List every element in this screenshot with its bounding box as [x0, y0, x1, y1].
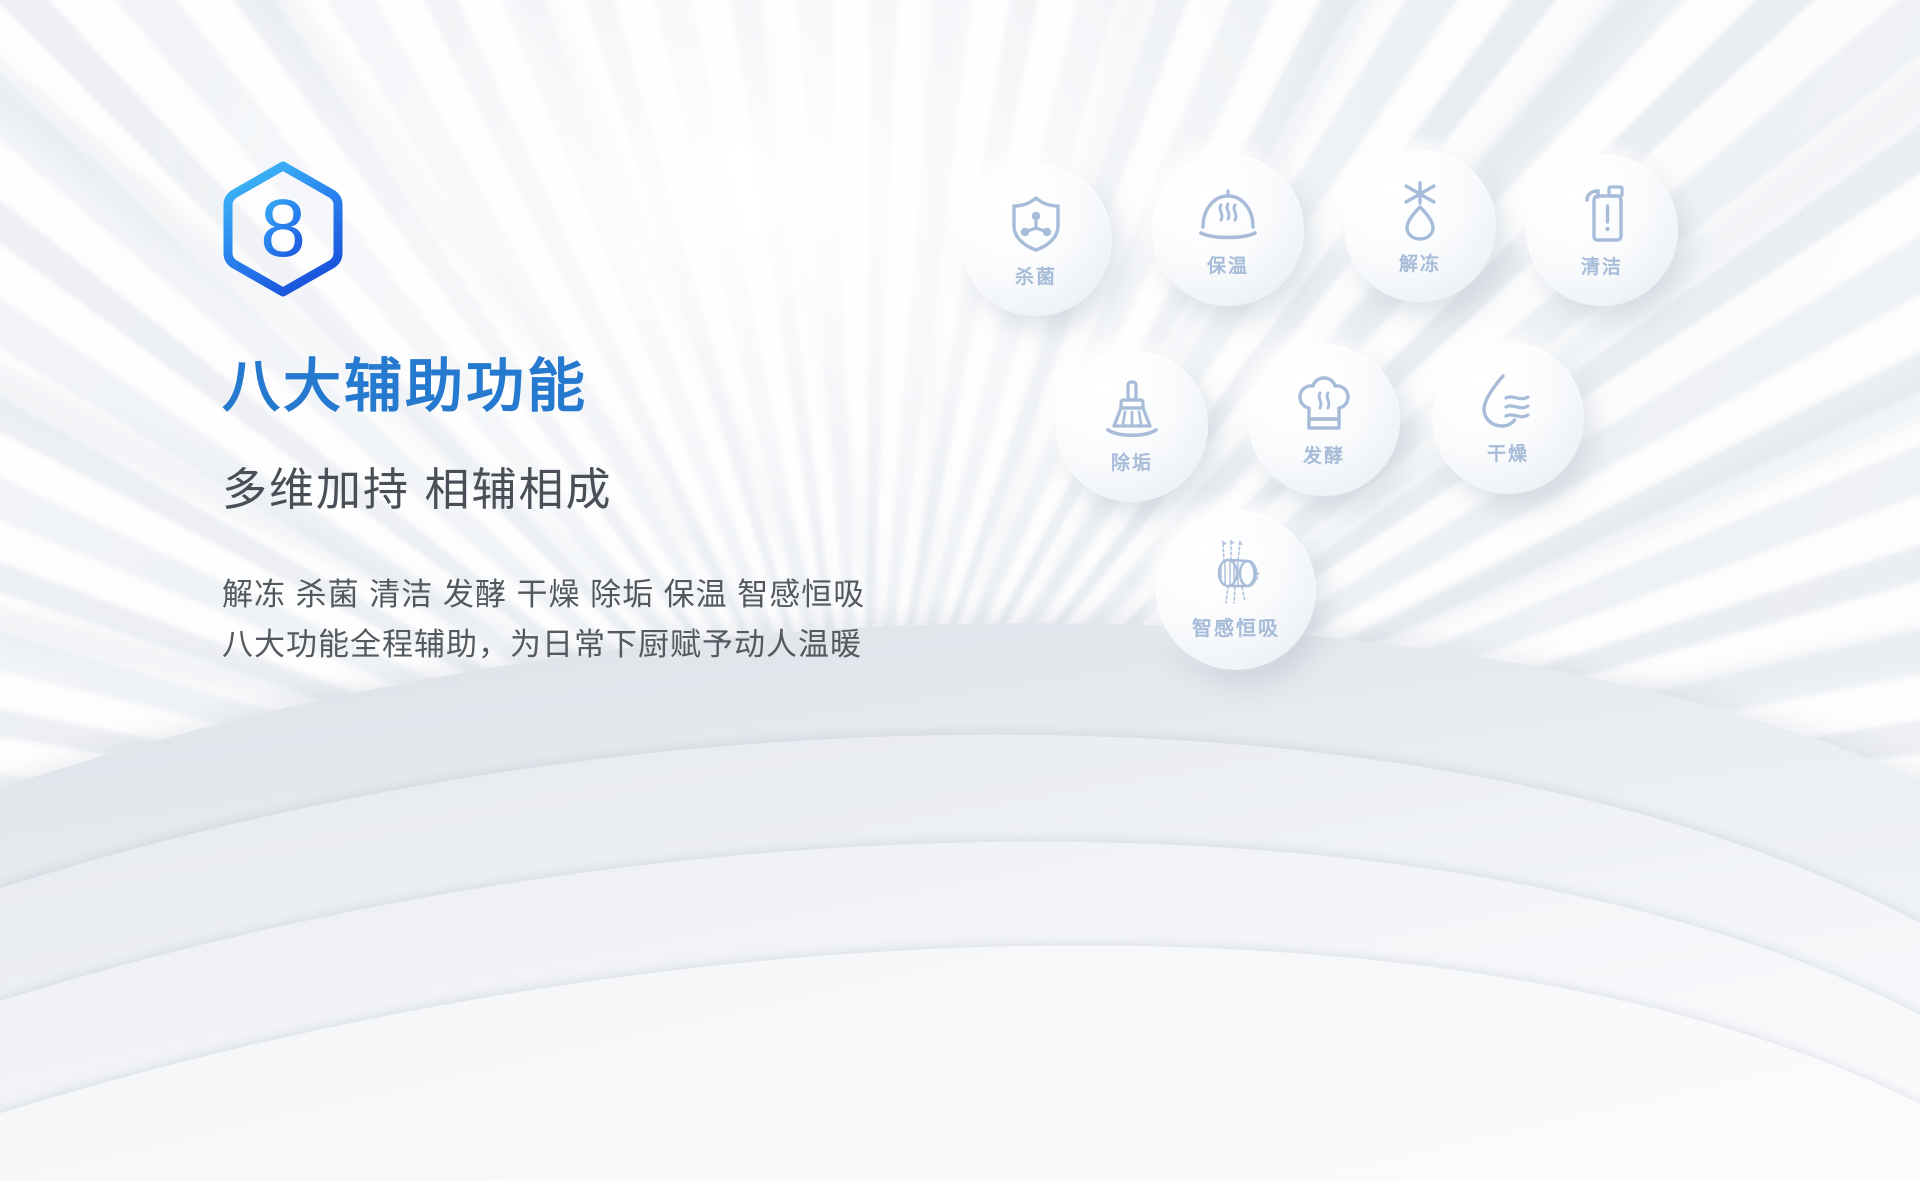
feature-bubble-dry[interactable]: 干燥 — [1432, 342, 1584, 494]
feature-bubble-clean[interactable]: 清洁 — [1526, 154, 1678, 306]
feature-label: 除垢 — [1111, 448, 1153, 475]
snowflake-droplet-icon — [1391, 177, 1449, 243]
turbine-airflow-icon — [1200, 540, 1272, 606]
feature-label: 智感恒吸 — [1192, 612, 1280, 641]
feature-poster: 8 八大辅助功能 多维加持 相辅相成 解冻 杀菌 清洁 发酵 干燥 除垢 保温 … — [0, 0, 1920, 1181]
shield-molecule-icon — [1004, 192, 1068, 256]
feature-icon-cluster: 杀菌 保温 解冻 — [960, 150, 1760, 730]
body-line-1: 解冻 杀菌 清洁 发酵 干燥 除垢 保温 智感恒吸 — [222, 570, 1002, 620]
svg-text:8: 8 — [260, 183, 306, 274]
feature-label: 发酵 — [1303, 441, 1345, 468]
feature-bubble-smart-suction[interactable]: 智感恒吸 — [1156, 510, 1316, 670]
hexagon-eight-badge-icon: 8 — [222, 160, 344, 298]
detergent-bottle-icon — [1573, 182, 1631, 246]
text-column: 8 八大辅助功能 多维加持 相辅相成 解冻 杀菌 清洁 发酵 干燥 除垢 保温 … — [222, 160, 1002, 670]
droplet-airflow-icon — [1476, 371, 1540, 433]
feature-bubble-defrost[interactable]: 解冻 — [1344, 150, 1496, 302]
feature-label: 干燥 — [1487, 439, 1529, 466]
feature-label: 清洁 — [1581, 252, 1623, 279]
feature-bubble-descale[interactable]: 除垢 — [1056, 350, 1208, 502]
feature-bubble-sterilize[interactable]: 杀菌 — [960, 164, 1112, 316]
feature-bubble-ferment[interactable]: 发酵 — [1248, 344, 1400, 496]
cloche-steam-icon — [1195, 183, 1261, 245]
page-title: 八大辅助功能 — [222, 355, 1002, 419]
feature-bubble-keep-warm[interactable]: 保温 — [1152, 154, 1304, 306]
feature-label: 保温 — [1207, 251, 1249, 278]
feature-label: 杀菌 — [1015, 262, 1057, 289]
body-line-2: 八大功能全程辅助，为日常下厨赋予动人温暖 — [222, 620, 1002, 670]
feature-label: 解冻 — [1399, 249, 1441, 276]
chef-hat-icon — [1291, 373, 1357, 435]
brush-icon — [1099, 378, 1165, 442]
background-ribbon-4 — [0, 689, 1920, 1181]
body-copy: 解冻 杀菌 清洁 发酵 干燥 除垢 保温 智感恒吸 八大功能全程辅助，为日常下厨… — [222, 570, 1002, 670]
subtitle: 多维加持 相辅相成 — [222, 453, 1002, 518]
